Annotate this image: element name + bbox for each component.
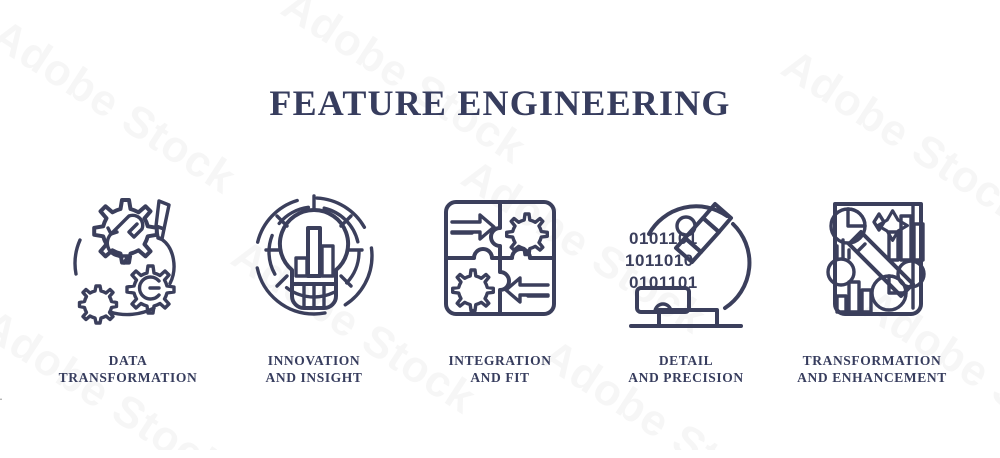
item-detail-and-precision[interactable]: 0101101 1011010 0101101 <box>598 185 774 386</box>
caption-line-2: TRANSFORMATION <box>59 369 198 386</box>
caption-line-1: INNOVATION <box>268 353 361 368</box>
page-title: FEATURE ENGINEERING <box>0 82 1000 124</box>
infographic-canvas: Adobe Stock Adobe Stock Adobe Stock Adob… <box>0 0 1000 450</box>
gear-top-right <box>507 214 548 255</box>
item-transformation-and-enhancement[interactable]: TRANSFORMATION AND ENHANCEMENT <box>784 185 960 386</box>
caption-line-2: AND FIT <box>448 369 551 386</box>
pie-chart-bottom <box>872 276 906 310</box>
item-integration-and-fit[interactable]: INTEGRATION AND FIT <box>412 185 588 386</box>
puzzle-gears-icon <box>425 185 575 330</box>
item-caption: DATA TRANSFORMATION <box>59 352 198 386</box>
lightbulb <box>280 209 348 307</box>
dashboard-magic-wand-icon <box>797 185 947 330</box>
caption-line-2: AND ENHANCEMENT <box>797 369 947 386</box>
lightbulb-bar-chart-icon <box>239 185 389 330</box>
small-gear <box>80 286 117 323</box>
item-data-transformation[interactable]: DATA TRANSFORMATION <box>40 185 216 386</box>
gear-wrench-icon <box>53 185 203 330</box>
bar-chart <box>296 228 333 276</box>
item-innovation-and-insight[interactable]: INNOVATION AND INSIGHT <box>226 185 402 386</box>
icon-row: DATA TRANSFORMATION <box>40 185 960 386</box>
caption-line-1: TRANSFORMATION <box>803 353 942 368</box>
caption-line-1: DATA <box>109 353 148 368</box>
caption-line-2: AND INSIGHT <box>266 369 363 386</box>
gear-bottom-left <box>453 270 494 311</box>
arrow-right <box>452 215 494 239</box>
item-caption: TRANSFORMATION AND ENHANCEMENT <box>797 352 947 386</box>
caption-line-2: AND PRECISION <box>628 369 743 386</box>
arrow-left <box>506 278 548 302</box>
wrench <box>107 215 142 263</box>
medium-gear <box>127 266 174 313</box>
microscope-binary-icon: 0101101 1011010 0101101 <box>611 185 761 330</box>
item-caption: INNOVATION AND INSIGHT <box>266 352 363 386</box>
large-gear <box>94 200 157 263</box>
item-caption: INTEGRATION AND FIT <box>448 352 551 386</box>
caption-line-1: INTEGRATION <box>448 353 551 368</box>
stock-credit-label: Adobe Stock | #1118174943 <box>0 341 2 458</box>
caption-line-1: DETAIL <box>659 353 713 368</box>
item-caption: DETAIL AND PRECISION <box>628 352 743 386</box>
